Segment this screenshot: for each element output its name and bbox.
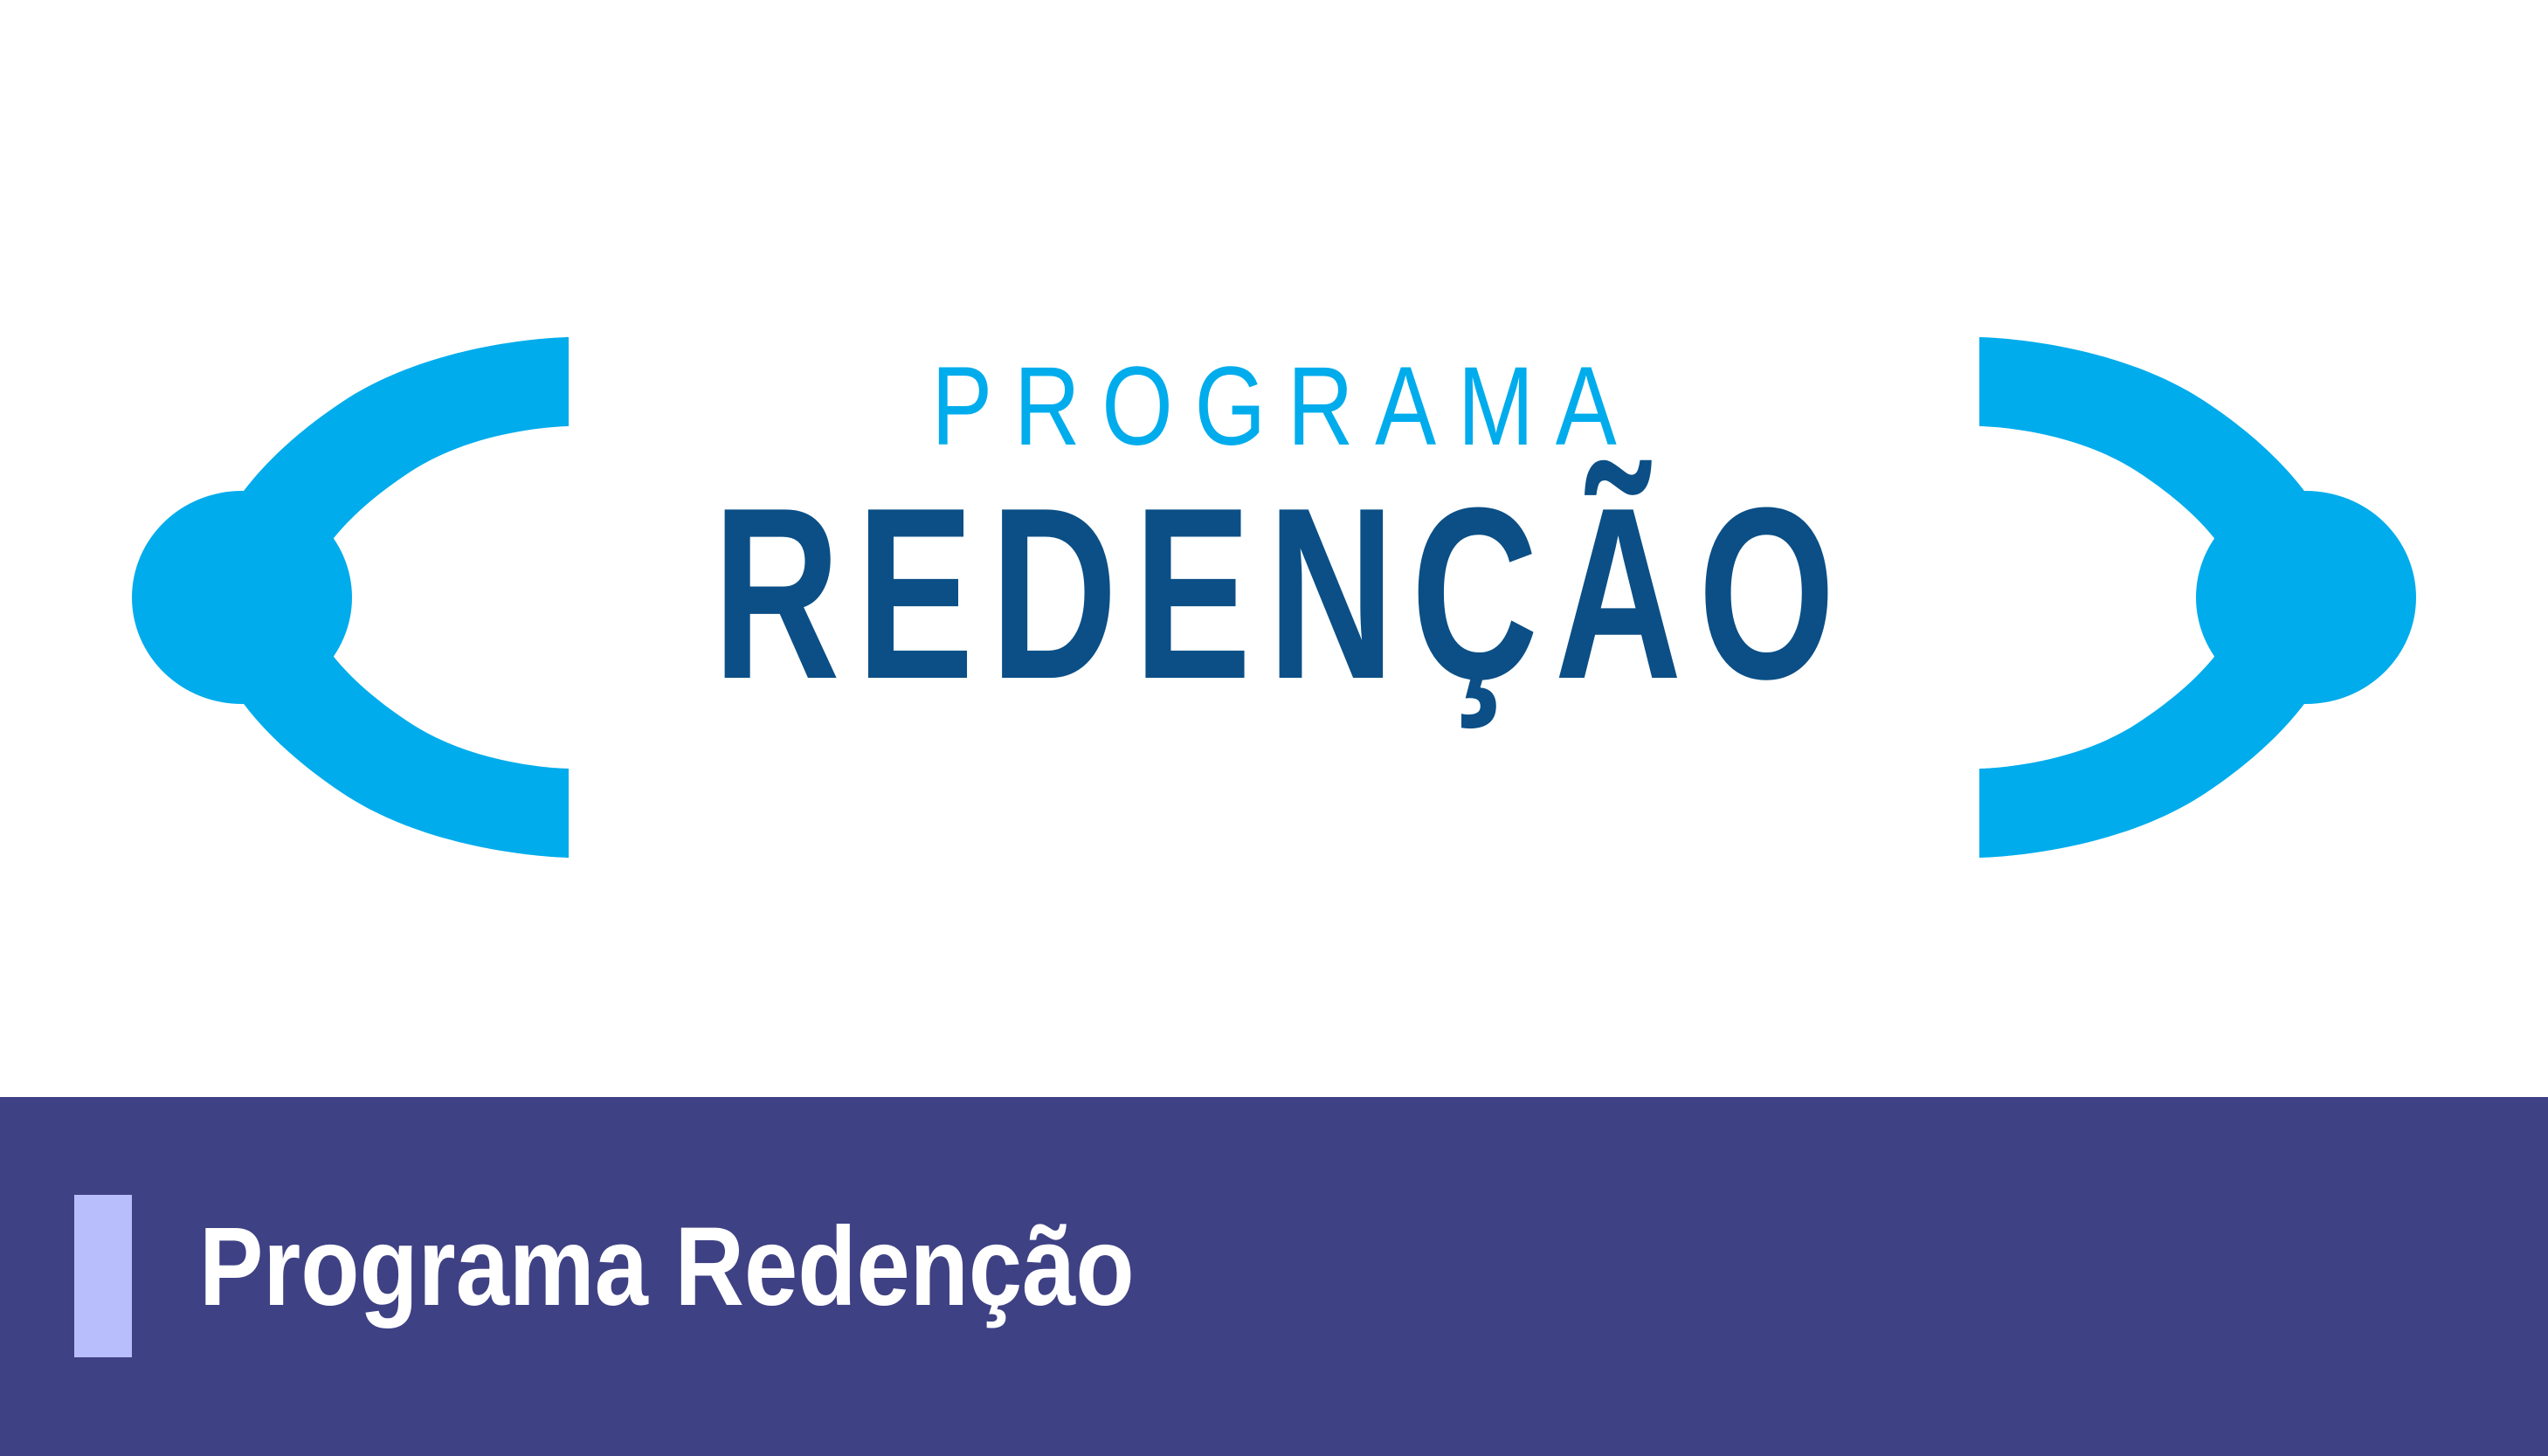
slide-canvas: PROGRAMA REDENÇÃO Programa Redenção — [0, 0, 2548, 1456]
right-arc-open-right-icon — [1979, 337, 2345, 858]
caption-accent-bar — [74, 1195, 132, 1357]
left-arc-open-left-icon — [203, 337, 569, 858]
logo-graphic — [0, 0, 2548, 1097]
caption-title: Programa Redenção — [199, 1200, 1135, 1335]
caption-band: Programa Redenção — [0, 1097, 2548, 1456]
logo-area: PROGRAMA REDENÇÃO — [0, 0, 2548, 1097]
